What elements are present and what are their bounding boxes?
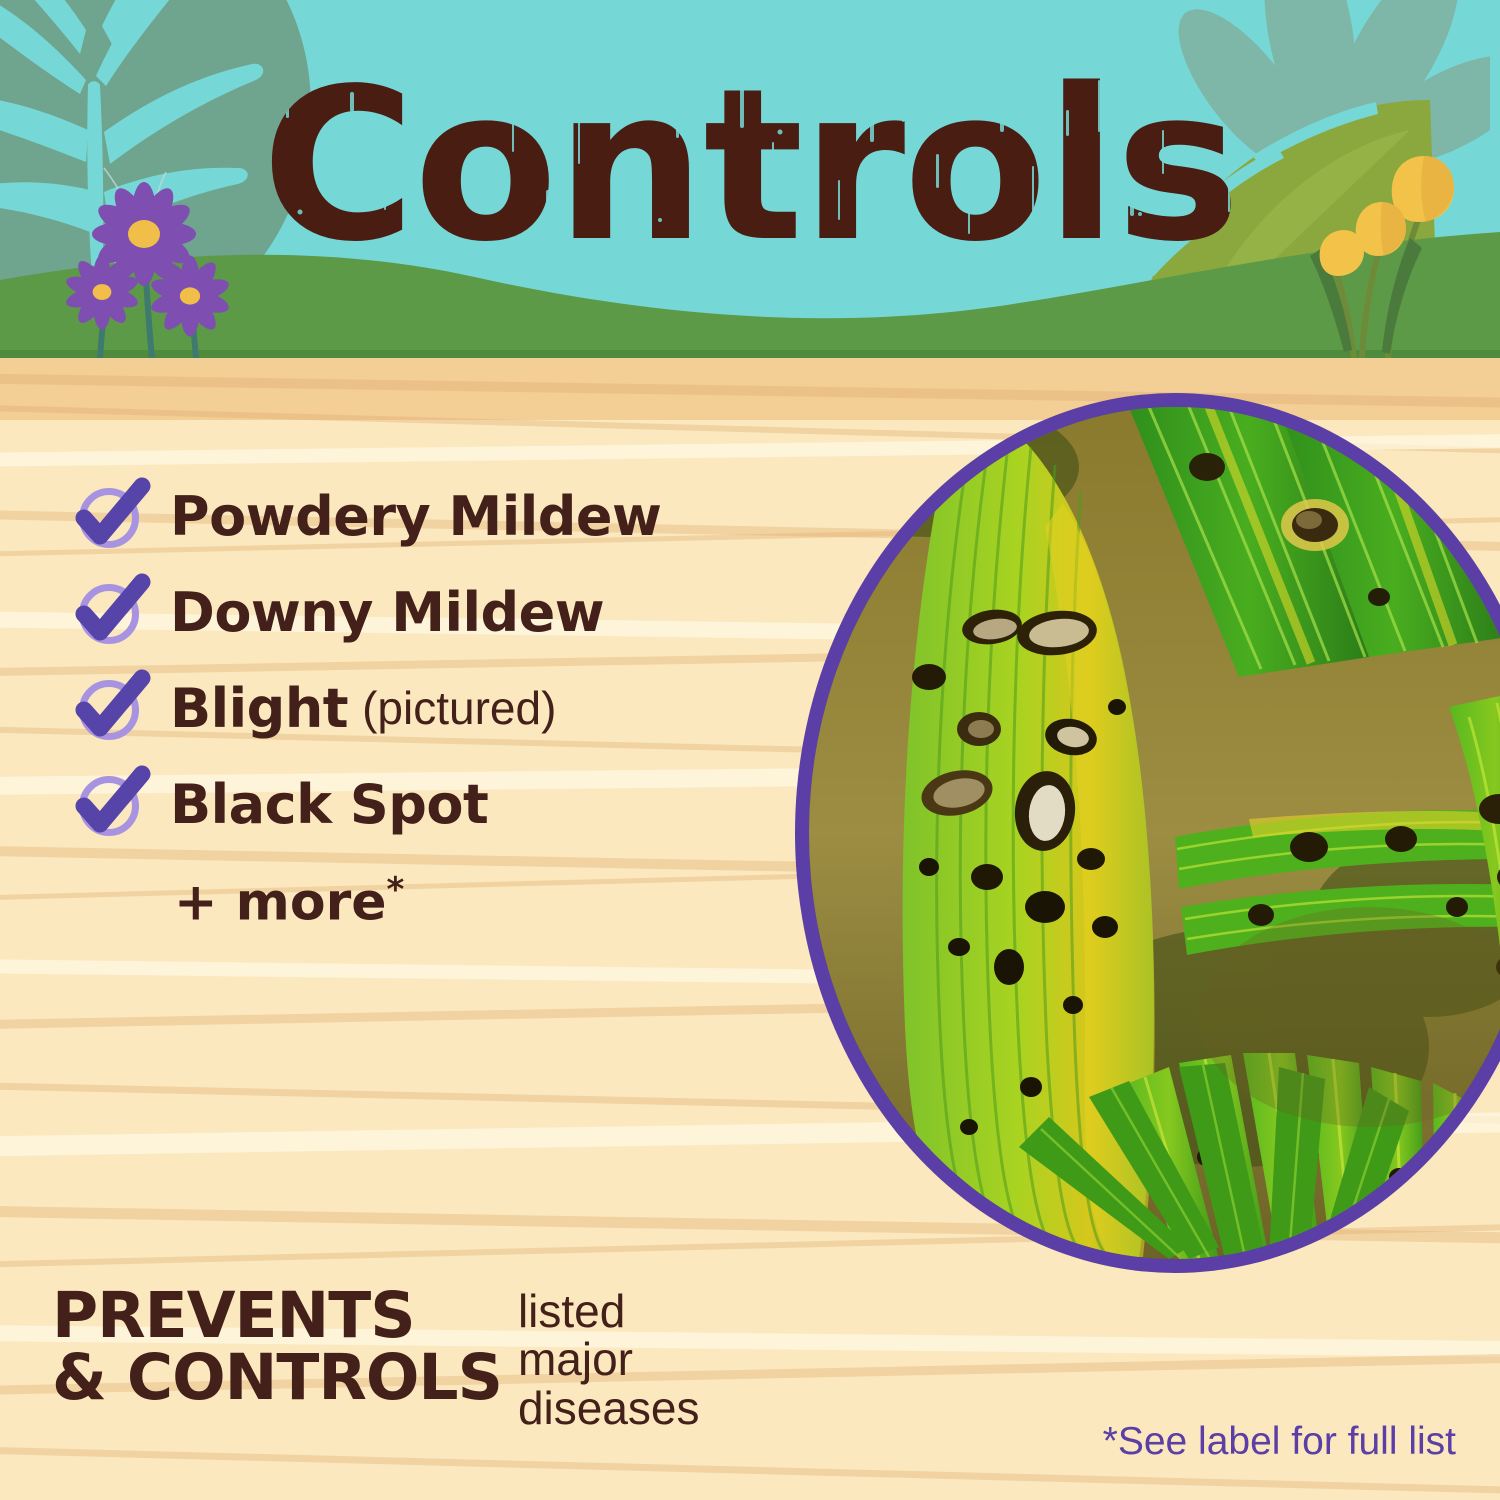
svg-text:Controls: Controls [261, 62, 1238, 282]
list-item-label: Downy Mildew [170, 581, 604, 644]
claim-line2: & CONTROLS [52, 1347, 502, 1409]
list-item[interactable]: Downy Mildew [70, 564, 790, 660]
more-asterisk: * [387, 870, 405, 910]
list-item-note: (pictured) [362, 681, 556, 735]
disease-photo[interactable] [795, 393, 1500, 1273]
page-title: Controls [0, 62, 1500, 282]
list-item[interactable]: Black Spot [70, 756, 790, 852]
more-text: + more [174, 872, 387, 932]
more-label: + more* [174, 870, 790, 932]
claim-small-column: listed major diseases [518, 1285, 700, 1432]
list-item-label: Blight [170, 677, 348, 740]
claim-row: PREVENTS & CONTROLS listed major disease… [52, 1285, 832, 1432]
claim-block: PREVENTS & CONTROLS listed major disease… [52, 1285, 832, 1432]
footnote: *See label for full list [1103, 1420, 1456, 1464]
claim-line1: PREVENTS [52, 1285, 502, 1347]
check-circle-icon [70, 474, 154, 558]
list-item[interactable]: Powdery Mildew [70, 468, 790, 564]
list-item[interactable]: Blight (pictured) [70, 660, 790, 756]
check-circle-icon [70, 666, 154, 750]
check-circle-icon [70, 570, 154, 654]
claim-small-line3: diseases [518, 1384, 700, 1432]
photo-clip [809, 407, 1500, 1259]
claim-small-line1: listed [518, 1287, 700, 1335]
list-item-label: Black Spot [170, 773, 488, 836]
disease-checklist: Powdery Mildew Downy Mildew [70, 468, 790, 932]
check-circle-icon [70, 762, 154, 846]
claim-small-line2: major [518, 1335, 700, 1383]
header-banner: Controls [0, 0, 1500, 358]
list-item-label: Powdery Mildew [170, 485, 661, 548]
poster-root: Controls [0, 0, 1500, 1500]
